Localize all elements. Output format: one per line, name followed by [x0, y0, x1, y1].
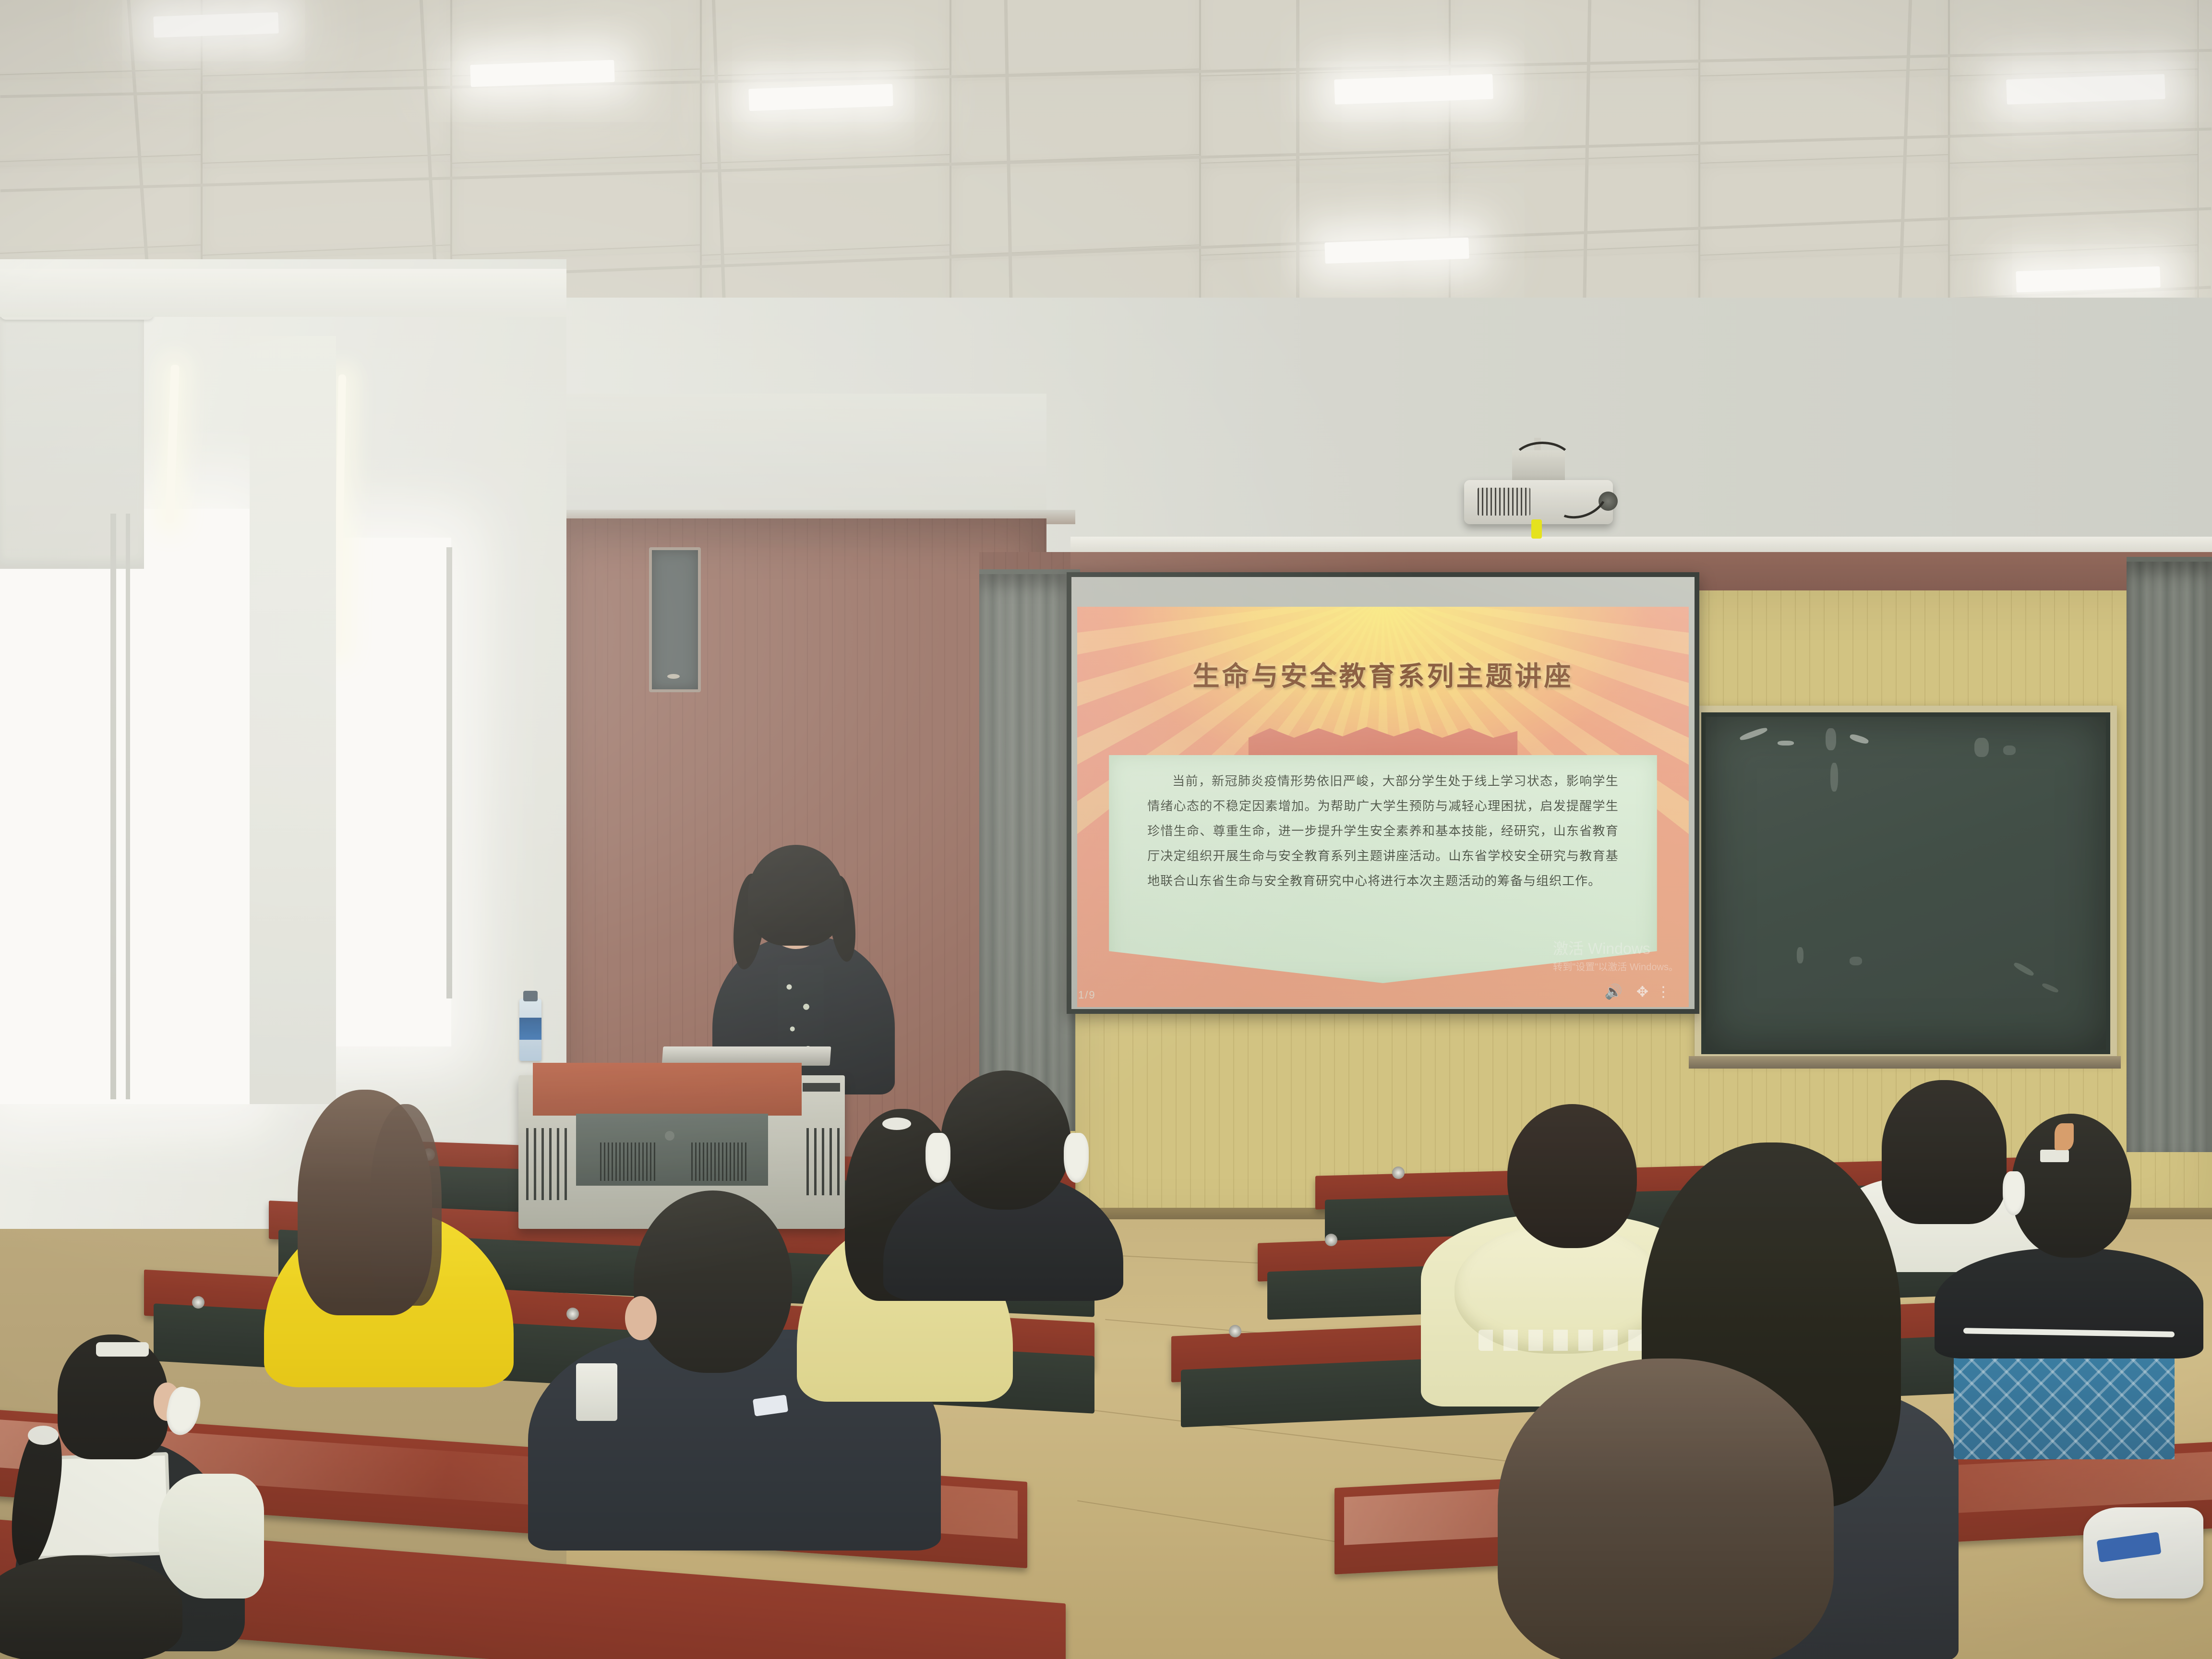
- left-wall-pillar: [250, 336, 336, 1104]
- window-blind: [0, 307, 144, 569]
- podium-lock[interactable]: [665, 1131, 674, 1141]
- ceiling-tile: [1450, 154, 1699, 261]
- window-glow: [0, 509, 250, 1104]
- blackboard-frame: [1695, 706, 2117, 1061]
- cup: [576, 1363, 617, 1421]
- student-face-mask: [2003, 1171, 2025, 1215]
- slide-body-text: 当前，新冠肺炎疫情形势依旧严峻，大部分学生处于线上学习状态，影响学生情绪心态的不…: [1147, 769, 1619, 893]
- student-hair-strand: [370, 1104, 442, 1306]
- student-face-mask: [926, 1133, 950, 1183]
- more-options-icon[interactable]: ⋮: [1656, 984, 1671, 1000]
- bottle-cap: [523, 991, 538, 1001]
- ceiling-tile: [202, 69, 451, 169]
- podium-wood-trim: [533, 1063, 802, 1116]
- windows-activation-watermark: 激活 Windows 转到"设置"以激活 Windows。: [1553, 937, 1678, 974]
- window-mullion: [126, 514, 130, 1099]
- blackboard: [1701, 712, 2110, 1054]
- hair-tie: [28, 1426, 59, 1445]
- window-mullion: [446, 547, 452, 998]
- ceiling-tile: [451, 154, 701, 261]
- left-wall-soffit: [0, 269, 566, 317]
- student-ear: [625, 1296, 657, 1340]
- podium-speaker-grill: [600, 1142, 658, 1181]
- podium-speaker-grill: [691, 1142, 749, 1181]
- chalk-tray: [1689, 1056, 2121, 1069]
- projector-tag: [1531, 519, 1542, 539]
- watermark-line-2: 转到"设置"以激活 Windows。: [1553, 960, 1678, 974]
- ceiling-tile: [0, 69, 202, 169]
- desk-knob: [1229, 1325, 1241, 1337]
- student-hair: [1498, 1358, 1834, 1659]
- student-blue-knit: [1935, 1104, 2203, 1469]
- hair-clip: [96, 1342, 149, 1357]
- classroom-scene: 生命与安全教育系列主题讲座 当前，新冠肺炎疫情形势依旧严峻，大部分学生处于线上学…: [0, 0, 2212, 1659]
- student-head: [941, 1070, 1070, 1210]
- projector-cable: [1511, 442, 1574, 485]
- desk-knob: [1325, 1234, 1337, 1246]
- ceiling-tile: [701, 69, 950, 169]
- student-brown-front: [1469, 1358, 1863, 1659]
- student-face-mask: [1064, 1133, 1089, 1183]
- expand-icon[interactable]: ✥: [1636, 984, 1648, 1000]
- ceiling-tile: [1699, 69, 1949, 169]
- ceiling-tile: [950, 154, 1200, 261]
- wall-trim: [1070, 537, 2212, 554]
- bottle-label: [519, 1018, 541, 1040]
- wall-speaker: [649, 547, 701, 692]
- desk-knob: [1392, 1166, 1405, 1179]
- ceiling-tile: [0, 154, 202, 261]
- watermark-line-1: 激活 Windows: [1553, 937, 1678, 960]
- projector-vent: [1478, 488, 1530, 516]
- student-edge-left: [0, 1555, 182, 1659]
- projection-screen[interactable]: 生命与安全教育系列主题讲座 当前，新冠肺炎疫情形势依旧严峻，大部分学生处于线上学…: [1071, 577, 1695, 1009]
- ceiling-tile: [950, 69, 1200, 169]
- presenter-hair: [748, 845, 844, 946]
- podium-label: [803, 1083, 840, 1092]
- hair-clip: [2055, 1123, 2074, 1150]
- ceiling-light: [153, 12, 278, 37]
- slide-page-counter: 1/9: [1078, 989, 1096, 1001]
- student-black-back: [878, 1070, 1128, 1301]
- curtain-left[interactable]: [979, 574, 1075, 1131]
- ceiling-tile: [202, 154, 451, 261]
- desk-knob: [192, 1296, 204, 1309]
- slide-title: 生命与安全教育系列主题讲座: [1077, 655, 1689, 694]
- ceiling-tile: [1949, 154, 2199, 261]
- curtain-right[interactable]: [2127, 562, 2212, 1152]
- student-hair: [0, 1555, 182, 1659]
- hair-clip: [2040, 1150, 2069, 1162]
- student-yellow-left: [211, 1090, 528, 1387]
- window-mullion: [110, 514, 116, 1099]
- ceiling-tile: [1699, 154, 1949, 261]
- speaker-icon[interactable]: 🔊: [1605, 984, 1623, 1000]
- projection-screen-frame: 生命与安全教育系列主题讲座 当前，新冠肺炎疫情形势依旧严峻，大部分学生处于线上学…: [1067, 572, 1699, 1014]
- student-black-jacket: [1935, 1248, 2203, 1358]
